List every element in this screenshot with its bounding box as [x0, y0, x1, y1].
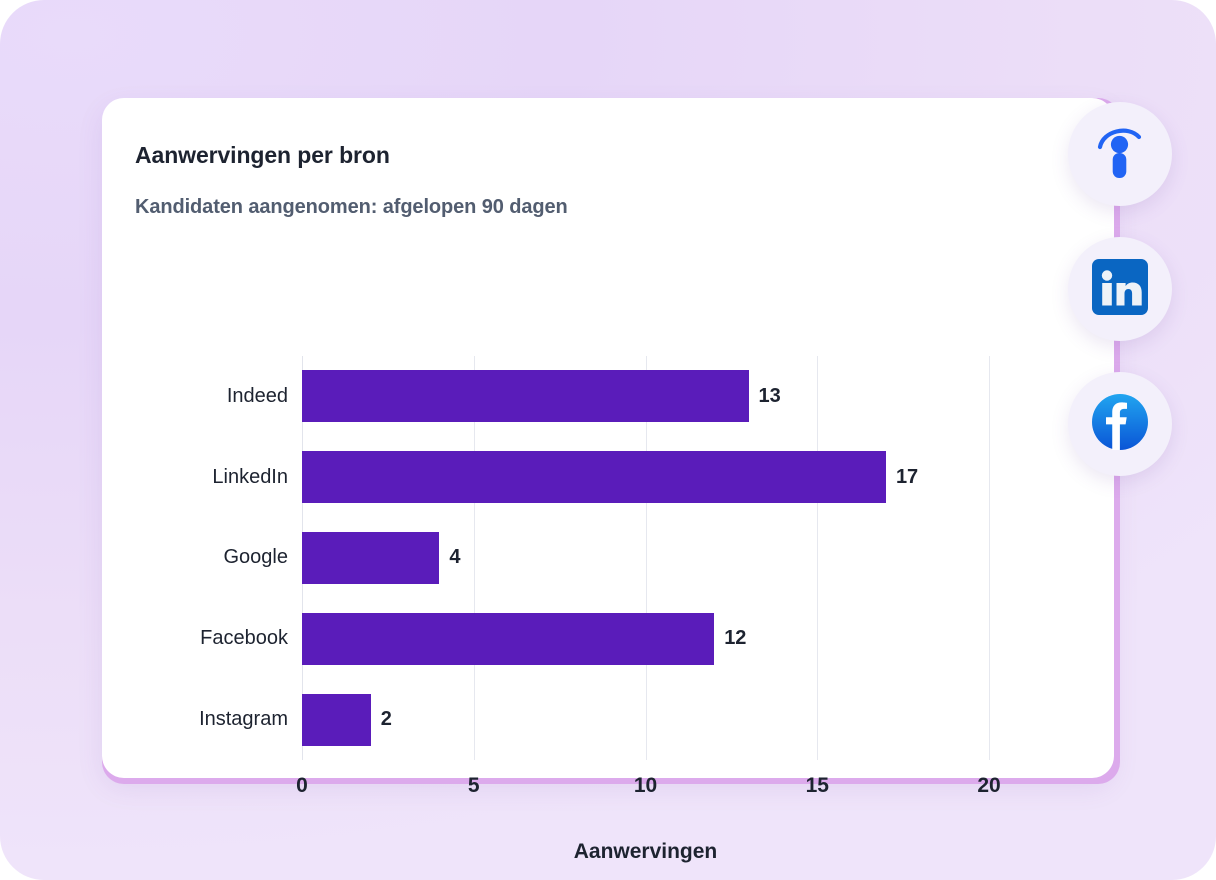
bar-value-label: 13	[759, 385, 781, 408]
category-label: Google	[224, 546, 289, 569]
x-tick-label: 0	[296, 774, 308, 798]
bar-linkedin[interactable]	[302, 451, 886, 503]
bar-facebook[interactable]	[302, 613, 714, 665]
x-tick-label: 10	[634, 774, 657, 798]
bar-row: Google4	[302, 518, 989, 599]
bar-google[interactable]	[302, 532, 439, 584]
x-axis-label: Aanwervingen	[302, 840, 989, 864]
linkedin-icon	[1092, 259, 1148, 320]
category-label: Instagram	[199, 708, 288, 731]
category-label: Facebook	[200, 627, 288, 650]
facebook-icon	[1092, 394, 1148, 455]
chart-card: Aanwervingen per bron Kandidaten aangeno…	[102, 98, 1114, 778]
badge-facebook[interactable]	[1068, 372, 1172, 476]
bar-instagram[interactable]	[302, 694, 371, 746]
bar-row: Indeed13	[302, 356, 989, 437]
bar-rows: Indeed13LinkedIn17Google4Facebook12Insta…	[302, 356, 989, 760]
bar-chart-plot-area: Indeed13LinkedIn17Google4Facebook12Insta…	[302, 356, 989, 760]
bar-row: Facebook12	[302, 598, 989, 679]
page-title: Aanwervingen per bron	[135, 142, 935, 169]
bar-row: LinkedIn17	[302, 437, 989, 518]
category-label: LinkedIn	[212, 466, 288, 489]
badge-linkedin[interactable]	[1068, 237, 1172, 341]
x-tick-label: 5	[468, 774, 480, 798]
x-tick-label: 20	[977, 774, 1000, 798]
gridline-20	[989, 356, 990, 760]
bar-value-label: 17	[896, 466, 918, 489]
badge-indeed[interactable]	[1068, 102, 1172, 206]
x-tick-label: 15	[806, 774, 829, 798]
bar-value-label: 12	[724, 627, 746, 650]
card-header: Aanwervingen per bron Kandidaten aangeno…	[135, 142, 935, 219]
bar-indeed[interactable]	[302, 370, 749, 422]
plot-inner: Indeed13LinkedIn17Google4Facebook12Insta…	[302, 356, 989, 760]
card-subtitle: Kandidaten aangenomen: afgelopen 90 dage…	[135, 196, 935, 219]
bar-row: Instagram2	[302, 679, 989, 760]
indeed-icon	[1094, 123, 1146, 186]
category-label: Indeed	[227, 385, 288, 408]
screenshot-stage: Aanwervingen per bron Kandidaten aangeno…	[0, 0, 1216, 880]
bar-value-label: 4	[449, 546, 460, 569]
x-axis-ticks: 05101520	[302, 774, 989, 808]
bar-value-label: 2	[381, 708, 392, 731]
